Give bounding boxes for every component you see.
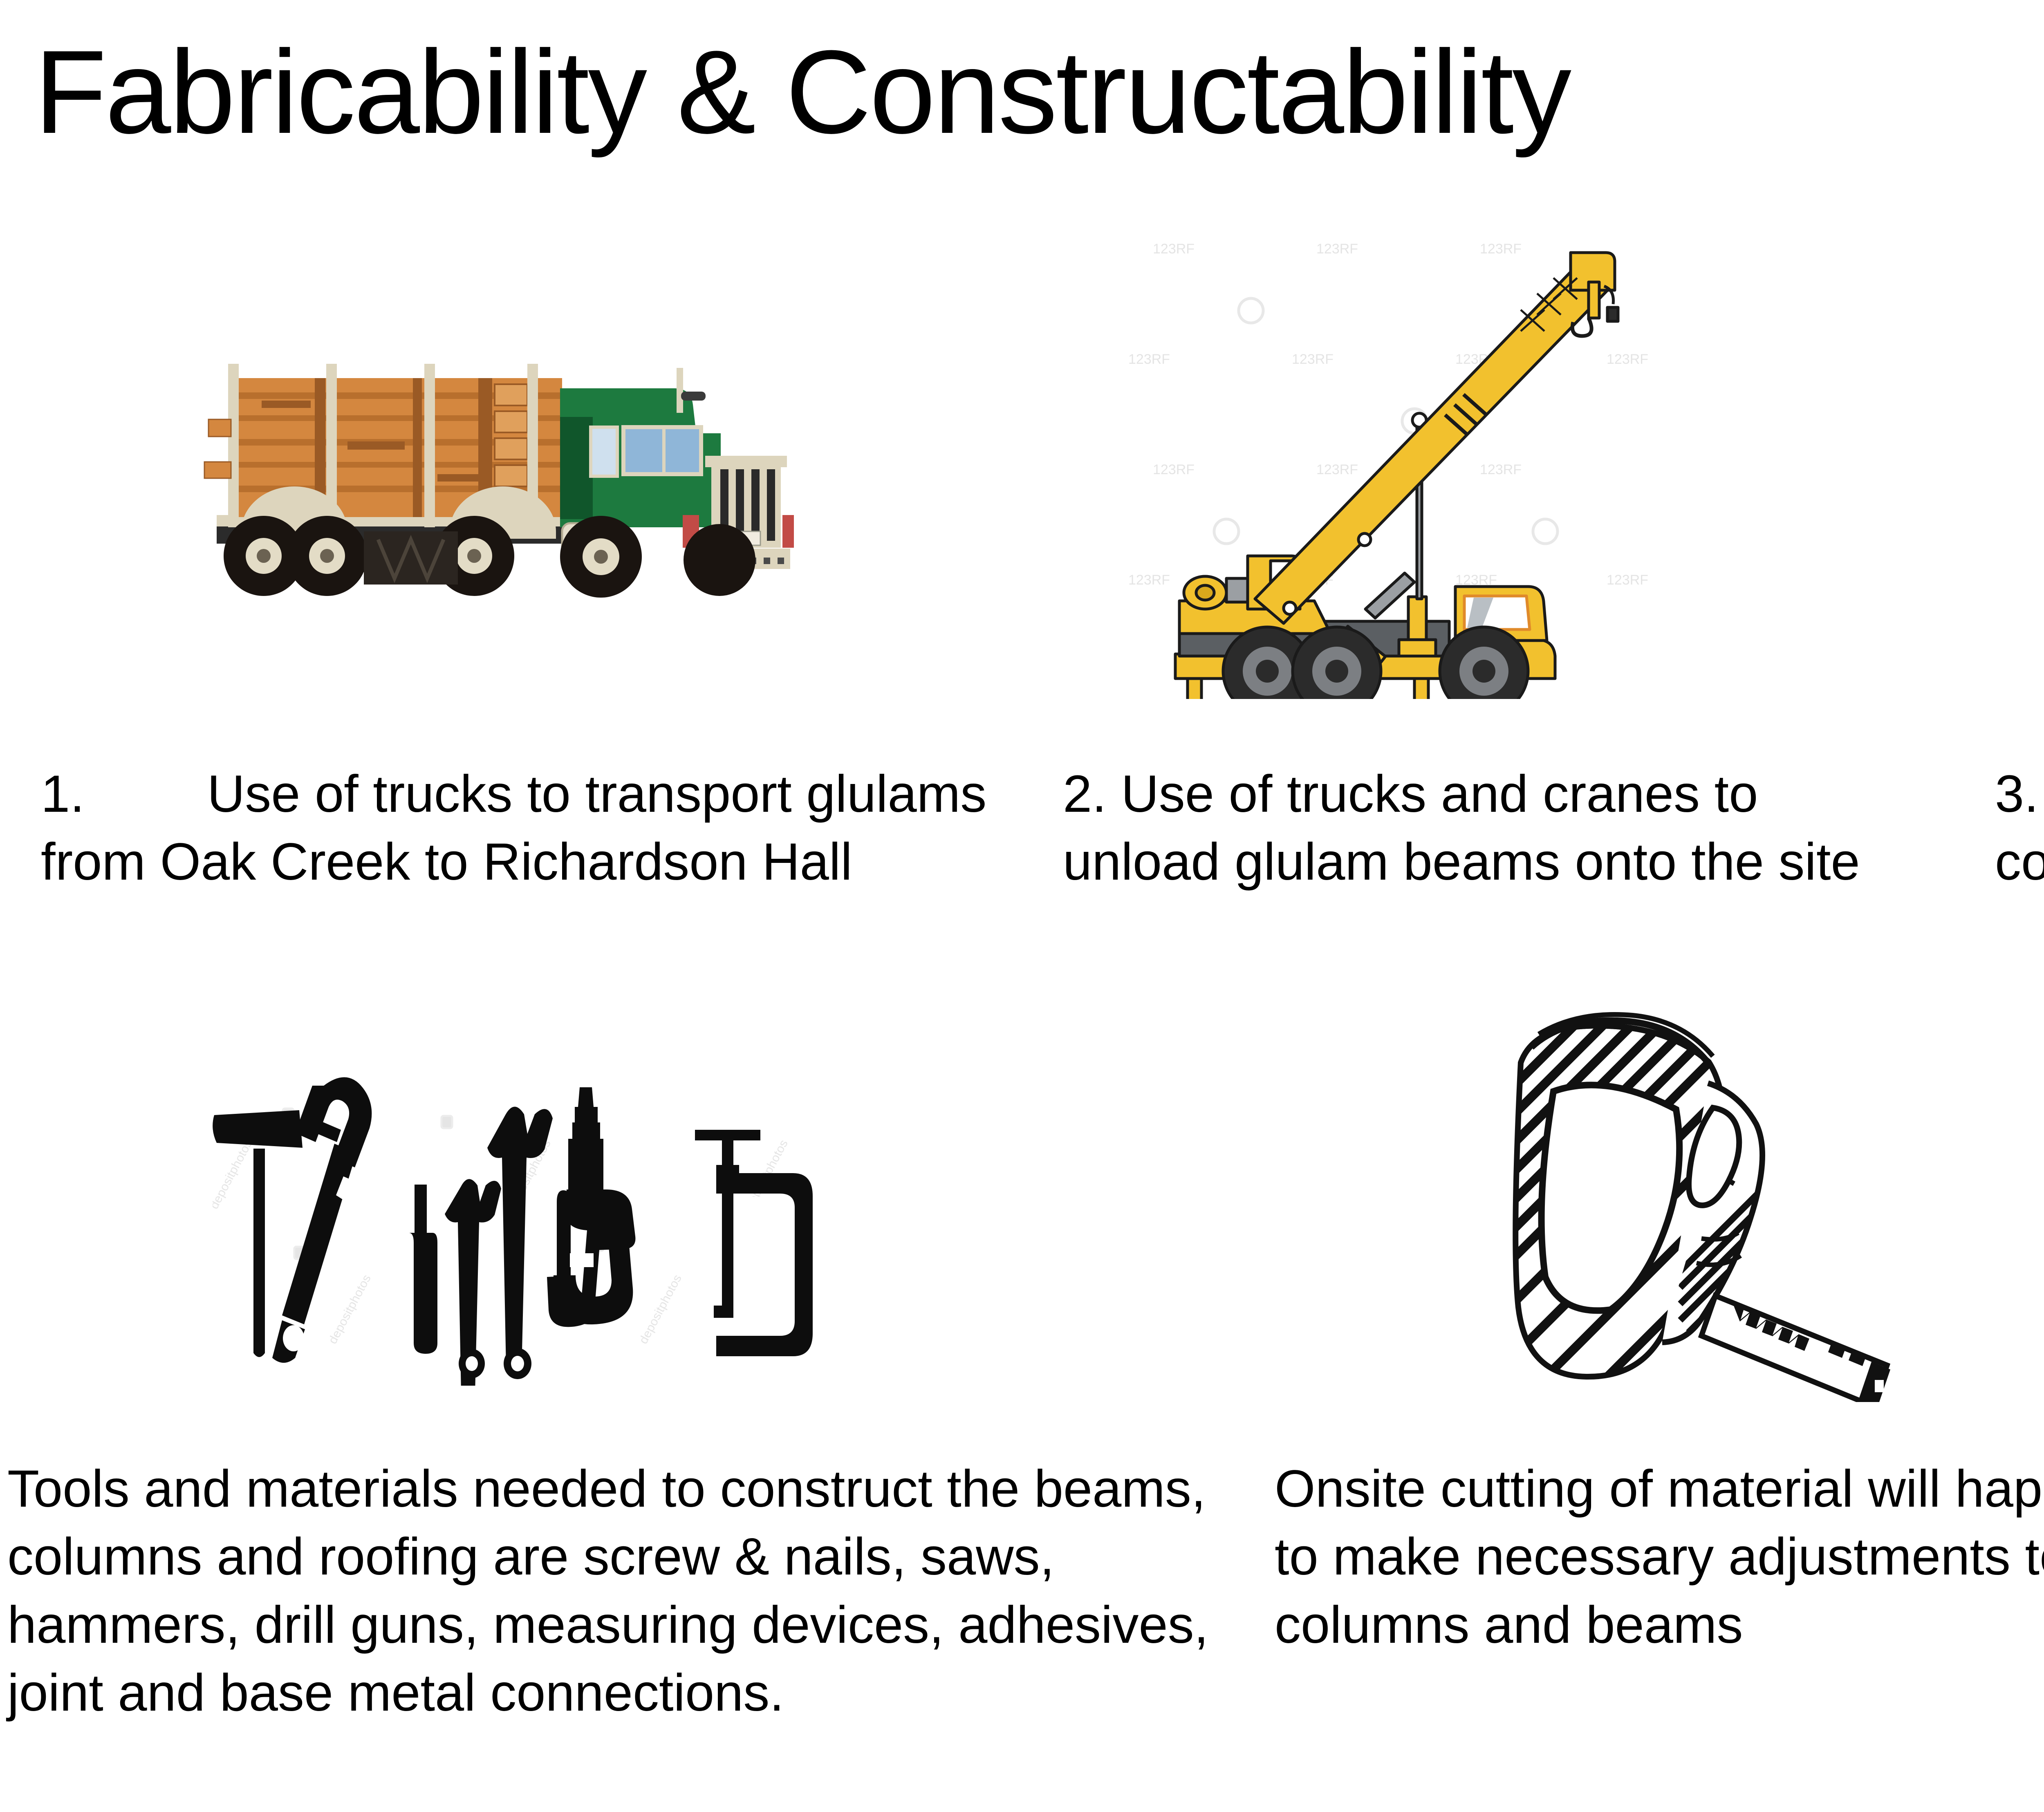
caption-item-2: 2. Use of trucks and cranes to unload gl… <box>1063 760 1913 896</box>
slide-canvas: Fabricability & Constructability <box>0 0 2044 1812</box>
item-3-number: 3. <box>1995 760 2039 828</box>
mobile-crane-illustration: 123RF123RF123RF 123RF123RF123RF123RF 123… <box>1104 229 1676 699</box>
svg-text:123RF: 123RF <box>1607 572 1648 588</box>
svg-text:123RF: 123RF <box>1480 462 1522 477</box>
item-1-number: 1. <box>41 760 85 828</box>
caption-item-4: Tools and materials needed to construct … <box>7 1455 1230 1727</box>
item-4-text: Tools and materials needed to construct … <box>7 1460 1208 1722</box>
page-title: Fabricability & Constructability <box>34 33 1570 151</box>
svg-text:123RF: 123RF <box>1292 352 1334 367</box>
svg-text:123RF: 123RF <box>1316 462 1358 477</box>
item-1-text: Use of trucks to transport glulams from … <box>41 765 986 891</box>
svg-text:123RF: 123RF <box>1480 241 1522 257</box>
svg-text:123RF: 123RF <box>1153 241 1195 257</box>
item-5-text: Onsite cutting of material will happen t… <box>1275 1460 2044 1654</box>
svg-text:123RF: 123RF <box>1128 572 1170 588</box>
item-2-number: 2. <box>1063 760 1107 828</box>
svg-text:123RF: 123RF <box>1316 241 1358 257</box>
caption-item-1: 1.Use of trucks to transport glulams fro… <box>41 760 1014 896</box>
svg-text:123RF: 123RF <box>1128 352 1170 367</box>
caption-item-5: Onsite cutting of material will happen t… <box>1275 1455 2044 1659</box>
svg-text:123RF: 123RF <box>1153 462 1195 477</box>
caption-item-3: 3. Approximately 10- 15 men will be need… <box>1995 760 2044 896</box>
svg-text:123RF: 123RF <box>1607 352 1648 367</box>
logging-truck-illustration <box>192 339 887 605</box>
hand-tools-silhouette: depositphotos depositphotos depositphoto… <box>213 1034 850 1386</box>
tape-measure-drawing <box>1451 1010 1983 1402</box>
item-2-text: Use of trucks and cranes to unload glula… <box>1063 765 1860 891</box>
